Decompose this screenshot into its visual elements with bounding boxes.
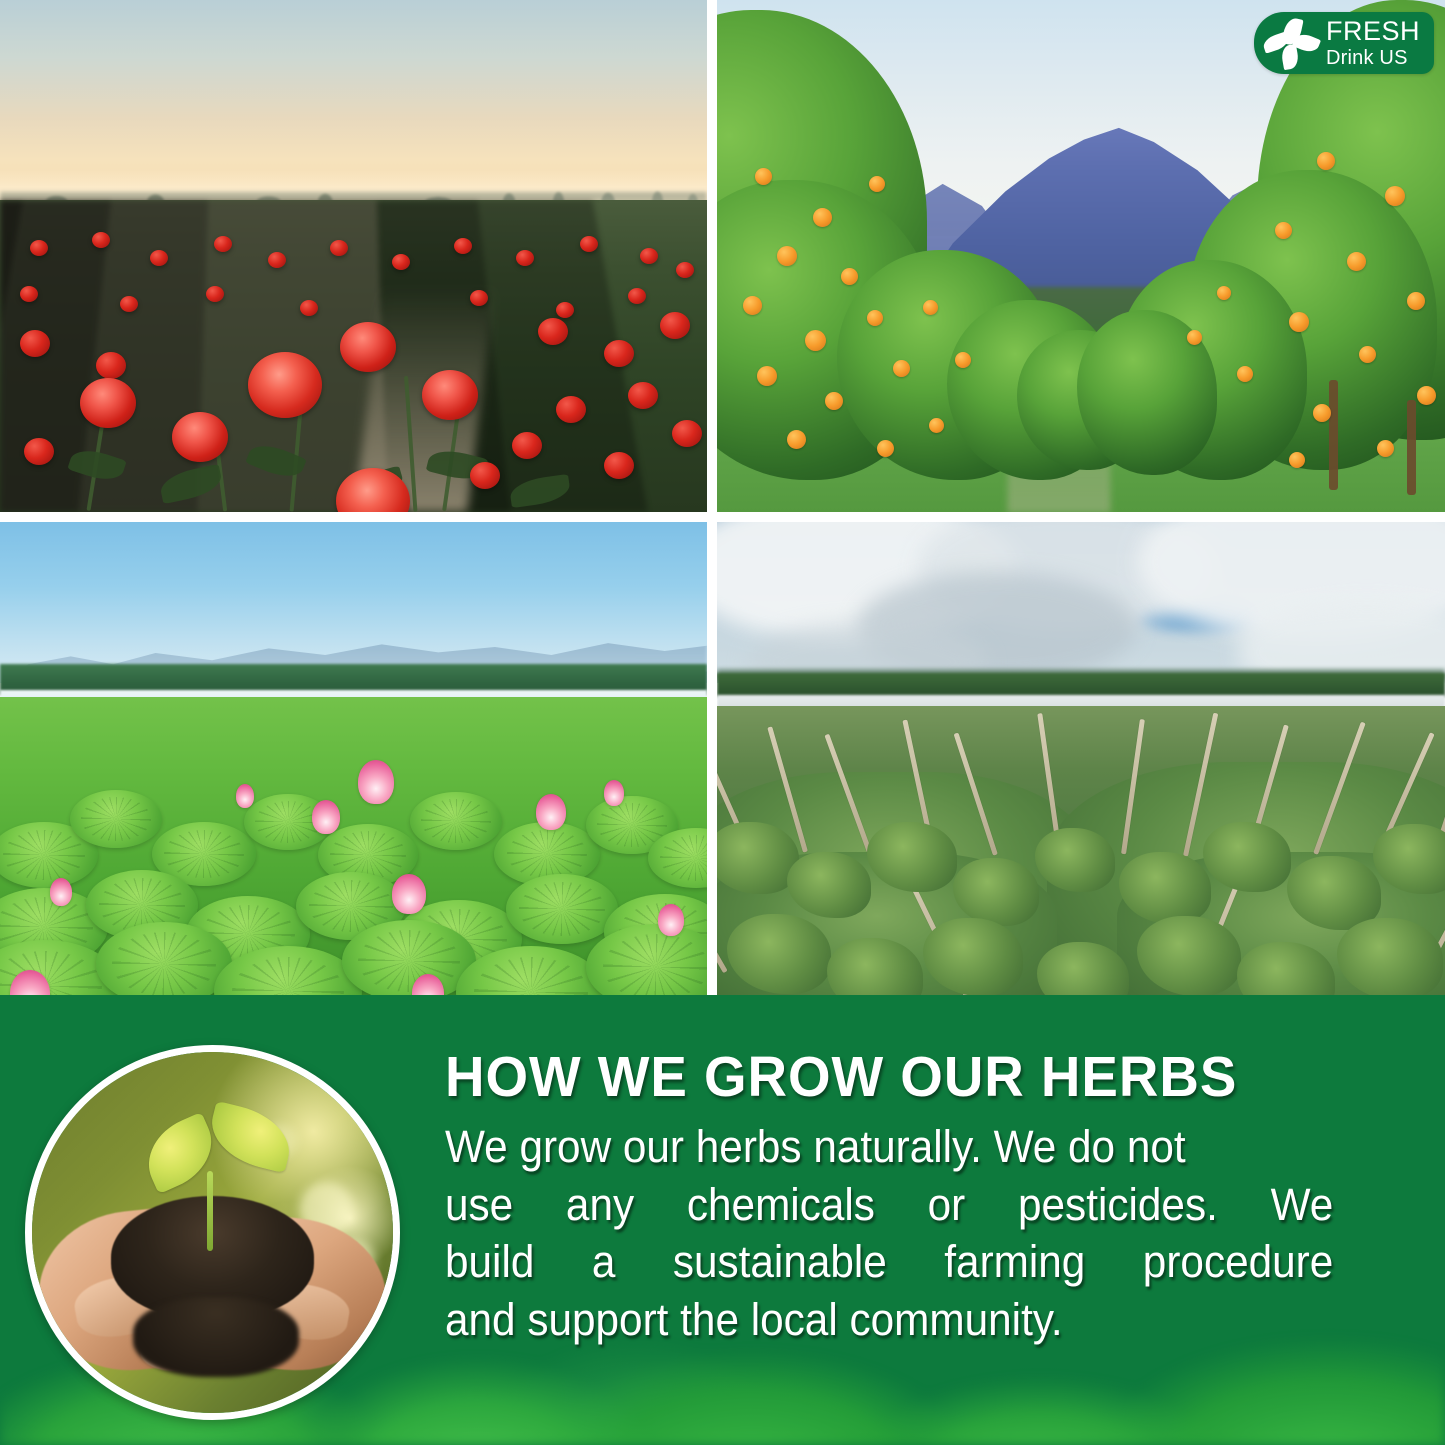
infographic-canvas: FRESH Drink US HOW WE GROW OUR HERBS We …	[0, 0, 1445, 1445]
brand-logo[interactable]: FRESH Drink US	[1254, 12, 1434, 74]
banner-text-block: HOW WE GROW OUR HERBS We grow our herbs …	[445, 1048, 1390, 1349]
brand-name-primary: FRESH	[1326, 18, 1420, 45]
photo-grid	[0, 0, 1445, 995]
body-line-4: and support the local community.	[445, 1291, 1333, 1349]
photo-rose-field	[0, 0, 707, 512]
brand-name-secondary: Drink US	[1326, 48, 1420, 68]
body-line-3: build a sustainable farming procedure	[445, 1233, 1333, 1291]
photo-lotus-field	[0, 522, 707, 995]
body-line-1: We grow our herbs naturally. We do not	[445, 1118, 1333, 1176]
photo-gourd-field	[717, 522, 1445, 995]
brand-logo-text: FRESH Drink US	[1326, 18, 1420, 68]
hands-seedling-photo	[25, 1045, 400, 1420]
body-line-2: use any chemicals or pesticides. We	[445, 1176, 1333, 1234]
soil-spill	[133, 1297, 299, 1376]
four-leaf-cluster-icon	[1262, 15, 1324, 71]
treeline	[717, 673, 1445, 697]
seedling-stem	[207, 1171, 213, 1250]
photo-orange-grove	[717, 0, 1445, 512]
page-title: HOW WE GROW OUR HERBS	[445, 1048, 1352, 1106]
